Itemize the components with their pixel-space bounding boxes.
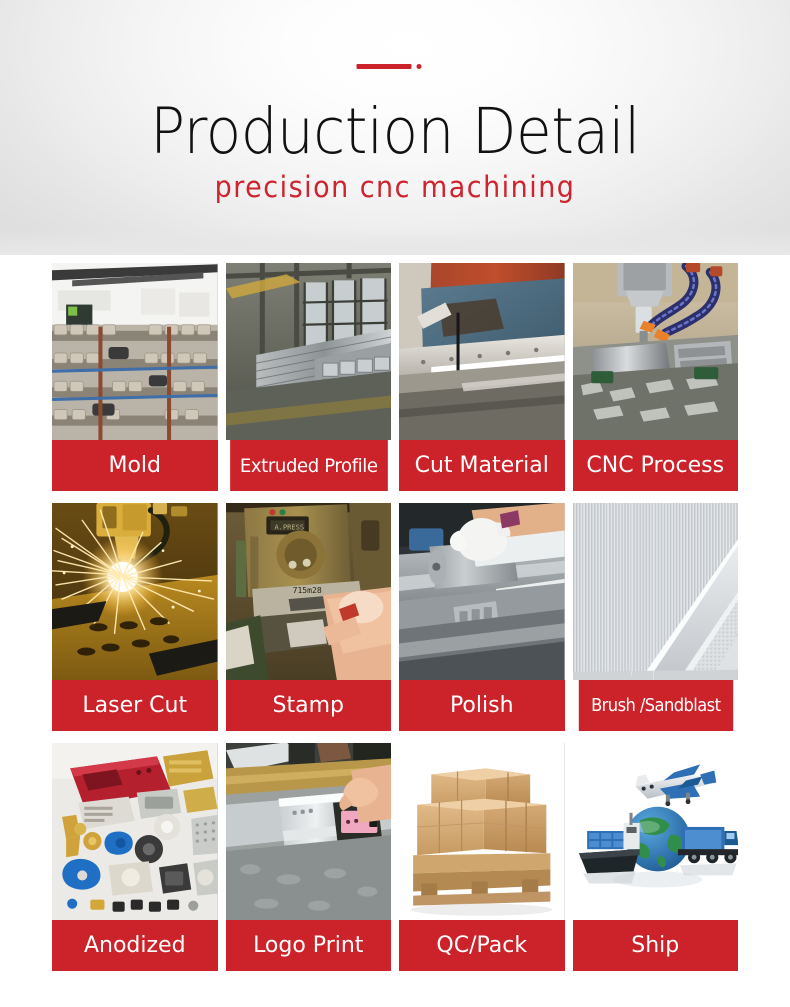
warehouse-mold-racks-photo [52,263,218,440]
brush-sandblast-thumbnail [573,503,739,680]
process-card-extruded-profile[interactable]: Extruded Profile [226,263,392,491]
logo-printing-pad-photo [226,743,392,920]
hand-polishing-aluminium-profile-photo [399,503,565,680]
process-card-qc-pack[interactable]: QC/Pack [399,743,565,971]
laser-cut-thumbnail [52,503,218,680]
cnc-process-thumbnail [573,263,739,440]
qc-pack-thumbnail [399,743,565,920]
page-header: Production Detail precision cnc machinin… [0,0,790,255]
process-card-label: Cut Material [399,440,565,491]
brushed-sandblasted-metal-surface-photo [573,503,739,680]
page-subtitle: precision cnc machining [28,168,763,206]
process-card-label: Mold [52,440,218,491]
process-card-label: Extruded Profile [230,440,387,491]
process-card-label: Polish [399,680,565,731]
process-card-mold[interactable]: Mold [52,263,218,491]
logo-print-thumbnail [226,743,392,920]
process-card-label: QC/Pack [399,920,565,971]
page-title: Production Detail [32,95,759,169]
cut-material-thumbnail [399,263,565,440]
process-card-label: Logo Print [226,920,392,971]
svg-text:715m28: 715m28 [292,586,321,595]
process-card-label: Stamp [226,680,392,731]
process-card-label: Laser Cut [52,680,218,731]
process-card-polish[interactable]: Polish [399,503,565,731]
process-card-laser-cut[interactable]: Laser Cut [52,503,218,731]
process-card-label: Brush /Sandblast [578,680,732,731]
process-card-stamp[interactable]: A.PRESS 715m28 [226,503,392,731]
plane-ship-truck-globe-photo [573,743,739,920]
polish-thumbnail [399,503,565,680]
process-card-logo-print[interactable]: Logo Print [226,743,392,971]
truck-glyph [677,827,738,875]
process-card-label: Ship [573,920,739,971]
aluminium-extruded-profiles-stack-photo [226,263,392,440]
saw-cutting-metal-bar-photo [399,263,565,440]
process-card-anodized[interactable]: Anodized [52,743,218,971]
stamping-press-operator-photo: A.PRESS 715m28 [226,503,392,680]
process-card-brush-sandblast[interactable]: Brush /Sandblast [573,503,739,731]
cnc-milling-machine-photo [573,263,739,440]
svg-text:A.PRESS: A.PRESS [274,522,304,531]
anodized-colored-parts-photo [52,743,218,920]
cartons-on-pallet-photo [399,743,565,920]
mold-thumbnail [52,263,218,440]
process-grid: Mold [52,263,738,971]
ship-thumbnail [573,743,739,920]
anodized-thumbnail [52,743,218,920]
extruded-profile-thumbnail [226,263,392,440]
process-card-cnc-process[interactable]: CNC Process [573,263,739,491]
red-dot-icon [417,64,422,69]
process-card-label: Anodized [52,920,218,971]
title-ornament [357,64,422,69]
laser-cutting-sparks-photo [52,503,218,680]
production-detail-page: Production Detail precision cnc machinin… [0,0,790,1007]
process-card-ship[interactable]: Ship [573,743,739,971]
red-dash-icon [357,64,412,69]
stamp-thumbnail: A.PRESS 715m28 [226,503,392,680]
process-card-cut-material[interactable]: Cut Material [399,263,565,491]
process-card-label: CNC Process [573,440,739,491]
